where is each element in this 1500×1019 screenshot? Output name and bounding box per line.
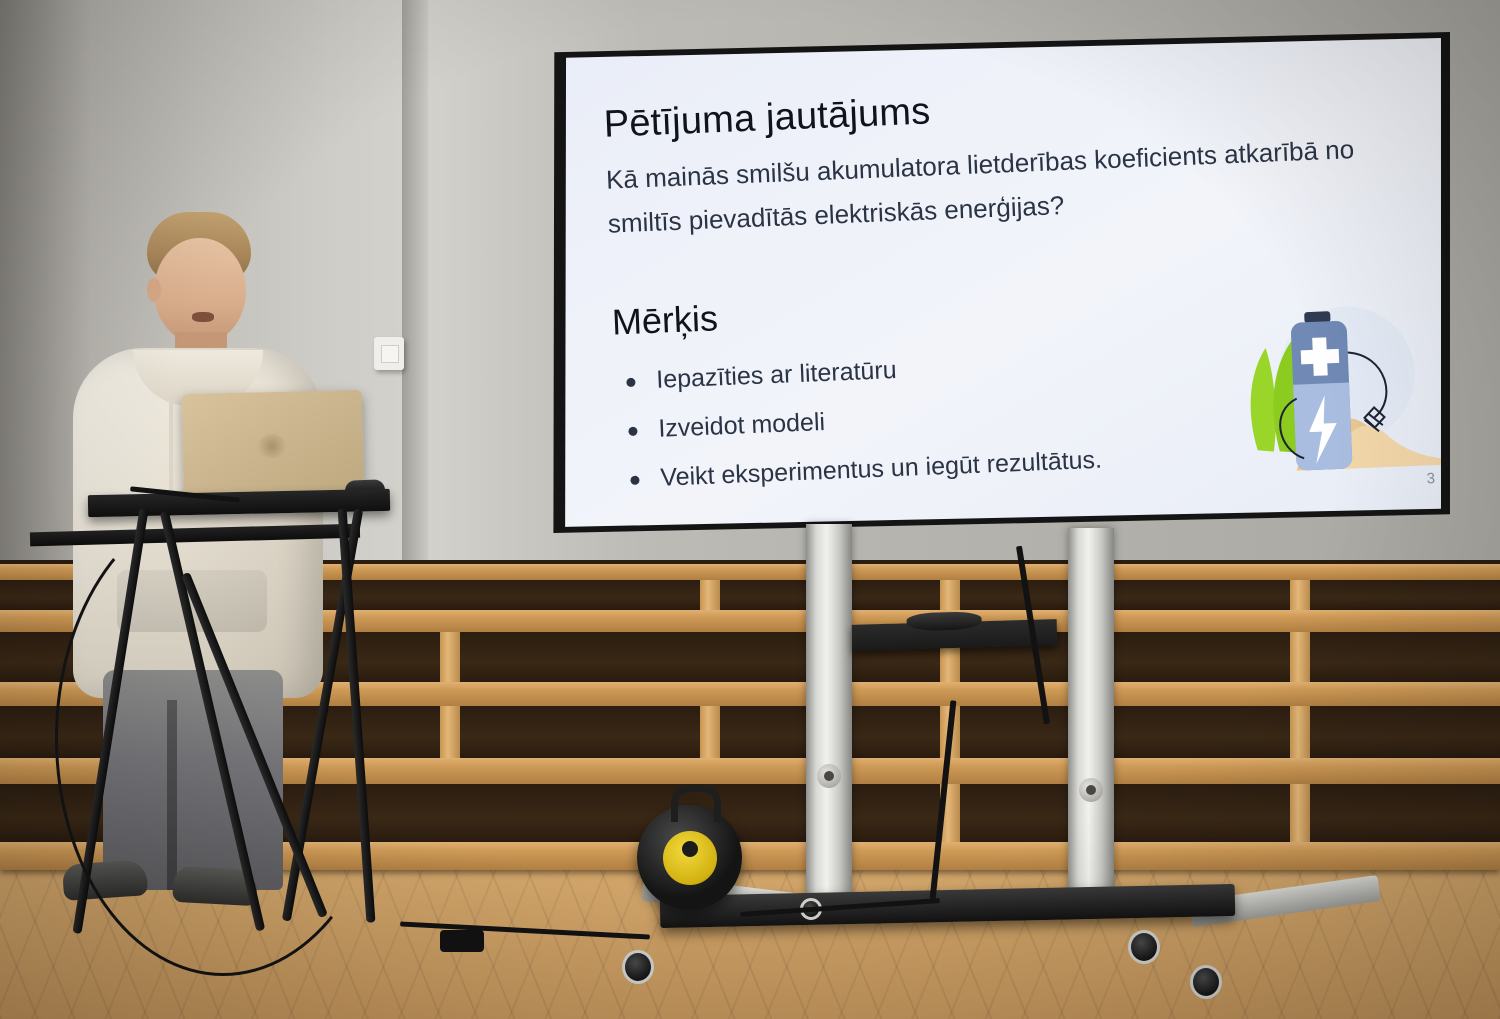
slide-research-question: Kā mainās smilšu akumulatora lietderības… [605,125,1408,246]
bench-post [700,706,720,758]
stand-caster[interactable] [1190,965,1222,999]
wall-pillar-edge [402,0,428,600]
presenter-head [154,238,246,344]
stand-caster[interactable] [1128,930,1160,964]
hp-logo [257,434,288,459]
presenter-mouth [192,312,214,322]
bench-post [1290,784,1310,842]
remote-control[interactable] [906,611,981,631]
tv-screen[interactable]: Pētījuma jautājums Kā mainās smilšu akum… [548,32,1450,537]
slide-title: Pētījuma jautājums [603,90,931,146]
cable-reel-socket-panel[interactable] [663,831,717,885]
tv-display[interactable]: Pētījuma jautājums Kā mainās smilšu akum… [548,32,1450,537]
bench-post [440,632,460,682]
bench-post [1290,580,1310,610]
bench-post [1290,706,1310,758]
cable-reel[interactable] [637,805,742,910]
light-switch[interactable] [374,337,404,370]
slide-subtitle-goal: Mērķis [611,297,719,343]
stand-caster[interactable] [622,950,654,984]
hoodie-drawstring [169,396,173,492]
stand-column-right [1068,528,1114,900]
column-cable-port [817,764,841,788]
light-switch-rocker[interactable] [381,345,399,363]
bench-post [1290,632,1310,682]
cable-reel-handle[interactable] [671,785,721,822]
bench-post [940,580,960,610]
presentation-slide: Pētījuma jautājums Kā mainās smilšu akum… [548,32,1450,537]
leaf-icon [1248,348,1277,453]
slide-page-number: 3 [1426,470,1435,487]
presenter-ear [147,278,161,302]
laptop[interactable] [182,390,365,502]
presentation-room-photo: Pētījuma jautājums Kā mainās smilšu akum… [0,0,1500,1019]
power-adapter [440,930,484,952]
stand-column-left [806,524,852,896]
bench-post [700,580,720,610]
battery-sand-illustration [1194,293,1450,493]
bench-post [440,706,460,758]
column-cable-port [1079,778,1103,802]
power-cable [55,500,391,976]
